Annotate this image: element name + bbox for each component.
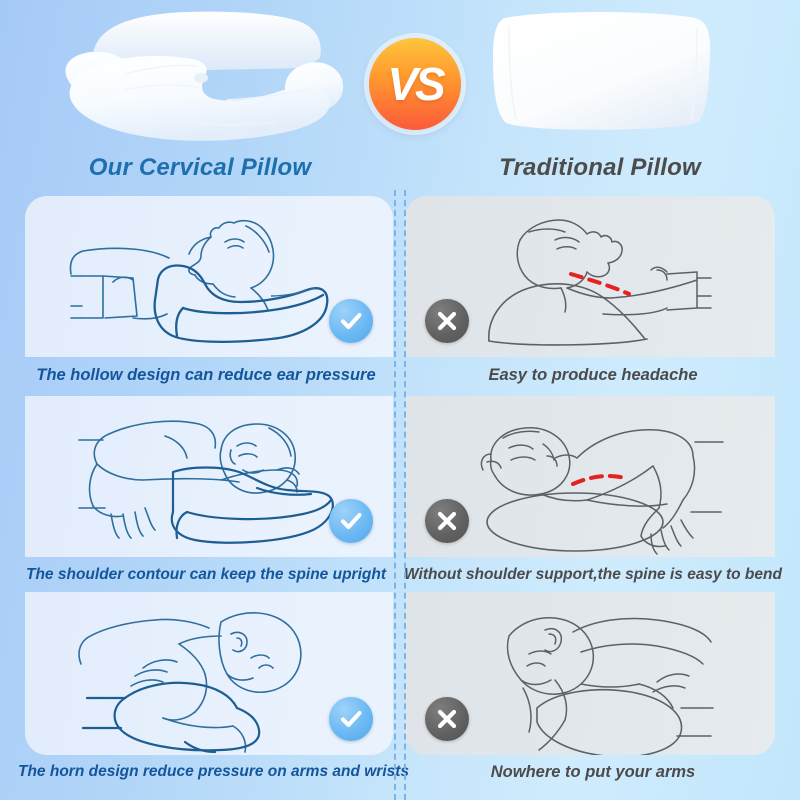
panel-cervical-arm-placement <box>25 592 393 755</box>
caption-cervical-shoulder-support: The shoulder contour can keep the spine … <box>18 560 394 590</box>
x-circle-icon <box>425 697 469 741</box>
caption-cervical-back-sleeping: The hollow design can reduce ear pressur… <box>18 360 394 390</box>
red-dashed-spine-line <box>573 476 625 484</box>
caption-traditional-shoulder-support: Without shoulder support,the spine is ea… <box>404 560 782 590</box>
hero-title-traditional: Traditional Pillow <box>405 154 795 182</box>
x-circle-icon <box>425 499 469 543</box>
panel-cervical-shoulder-support <box>25 396 393 557</box>
panel-traditional-shoulder-support <box>405 396 775 557</box>
caption-cervical-arm-placement: The horn design reduce pressure on arms … <box>18 757 394 787</box>
panel-cervical-back-sleeping <box>25 196 393 357</box>
vs-badge-label: VS <box>387 61 442 107</box>
check-circle-icon <box>329 499 373 543</box>
rectangular-traditional-pillow-icon <box>405 2 795 147</box>
hero-column-cervical: Our Cervical Pillow <box>5 0 395 190</box>
panel-traditional-arm-placement <box>405 592 775 755</box>
x-circle-icon <box>425 299 469 343</box>
caption-row-shoulder-support: The shoulder contour can keep the spine … <box>0 560 800 590</box>
check-circle-icon <box>329 697 373 741</box>
caption-traditional-back-sleeping: Easy to produce headache <box>404 360 782 390</box>
caption-row-back-sleeping: The hollow design can reduce ear pressur… <box>0 360 800 390</box>
check-circle-icon <box>329 299 373 343</box>
hero-title-cervical: Our Cervical Pillow <box>5 154 395 182</box>
dashed-divider-left-line <box>394 190 396 800</box>
caption-row-arm-placement: The horn design reduce pressure on arms … <box>0 757 800 787</box>
panel-traditional-back-sleeping <box>405 196 775 357</box>
hero-section: Our Cervical Pillow Traditional Pillow V… <box>0 0 800 190</box>
contoured-cervical-pillow-icon <box>5 2 395 147</box>
vs-badge: VS <box>369 38 461 130</box>
dashed-divider-right-line <box>404 190 406 800</box>
caption-traditional-arm-placement: Nowhere to put your arms <box>404 757 782 787</box>
hero-column-traditional: Traditional Pillow <box>405 0 795 190</box>
